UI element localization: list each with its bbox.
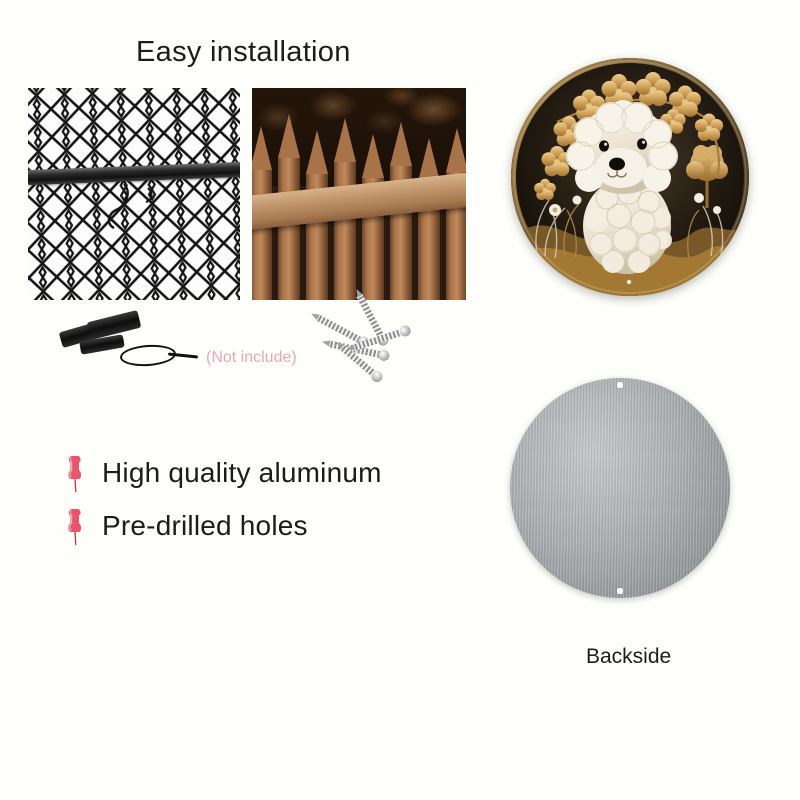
zip-ties-illustration: [58, 312, 198, 374]
zip-tie-loop: [119, 343, 176, 368]
screw-tip: [321, 339, 330, 347]
pushpin-icon: [62, 505, 88, 547]
fence-picket: [334, 162, 356, 300]
screw-tip: [310, 311, 320, 320]
fence-picket: [278, 158, 300, 300]
pushpin-icon: [62, 452, 88, 494]
aluminum-disc-back: [510, 378, 730, 598]
screws-illustration: [308, 306, 414, 378]
pre-drilled-hole-top: [617, 382, 623, 388]
round-dog-sign-front: [511, 58, 749, 296]
feature-label: Pre-drilled holes: [102, 510, 308, 542]
product-infographic: Easy installation: [0, 0, 800, 800]
loose-wire-detail-icon: [28, 88, 240, 300]
page-title: Easy installation: [136, 36, 351, 69]
fence-picket: [252, 170, 272, 300]
feature-item-pre-drilled-holes: Pre-drilled holes: [62, 505, 308, 547]
pre-drilled-hole-bottom: [617, 588, 623, 594]
dog-sign-artwork: [511, 58, 749, 296]
screw-head: [377, 349, 390, 362]
backside-label: Backside: [586, 645, 671, 669]
wooden-picket-fence-photo: [252, 88, 466, 300]
screw-head: [398, 324, 412, 338]
screw-head: [369, 369, 384, 384]
feature-item-high-quality-aluminum: High quality aluminum: [62, 452, 382, 494]
feature-label: High quality aluminum: [102, 457, 382, 489]
chain-link-fence-photo: [28, 88, 240, 300]
not-included-note: (Not include): [206, 349, 297, 367]
